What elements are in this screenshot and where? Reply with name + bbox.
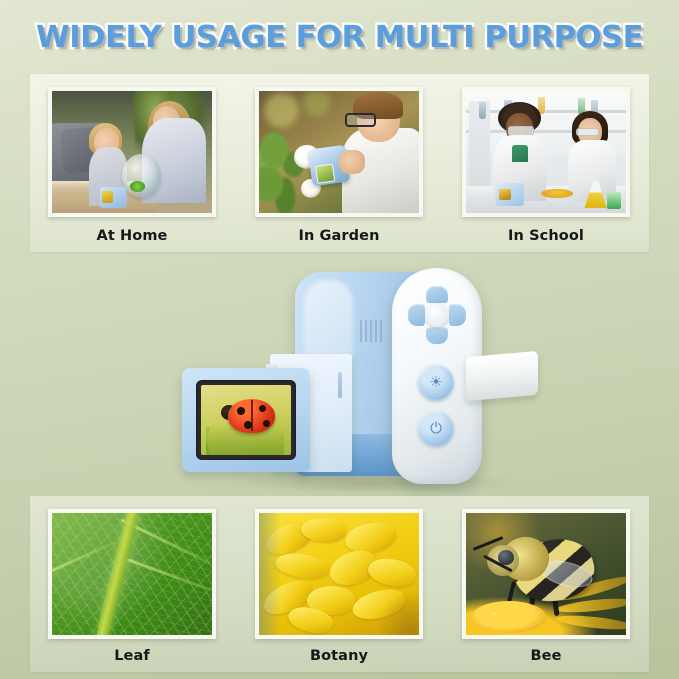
power-icon: ⏻: [418, 410, 454, 446]
usage-scenarios-row: At Home In Garden: [30, 74, 649, 252]
dpad-ok-button[interactable]: [425, 303, 449, 327]
sample-label-bee: Bee: [462, 648, 630, 664]
sample-photo-leaf: [48, 509, 216, 639]
sample-photo-botany: [255, 509, 423, 639]
dpad-left-button[interactable]: [408, 304, 425, 326]
usage-photo-at-home: [48, 87, 216, 217]
usage-label-in-school: In School: [462, 228, 630, 244]
dpad-right-button[interactable]: [449, 304, 466, 326]
wrist-strap: [466, 351, 538, 401]
sample-label-botany: Botany: [255, 648, 423, 664]
page-title: WIDELY USAGE FOR MULTI PURPOSE: [36, 20, 643, 55]
sample-card-bee[interactable]: Bee: [462, 496, 630, 672]
sample-photo-bee: [462, 509, 630, 639]
headline-banner: WIDELY USAGE FOR MULTI PURPOSE: [0, 20, 679, 55]
usage-photo-in-school: [462, 87, 630, 217]
usage-label-at-home: At Home: [48, 228, 216, 244]
capture-button[interactable]: ☀: [418, 364, 454, 400]
product-marketing-image: WIDELY USAGE FOR MULTI PURPOSE At: [0, 0, 679, 679]
usage-card-at-home[interactable]: At Home: [48, 74, 216, 252]
lcd-bezel: [196, 380, 296, 460]
usage-photo-in-garden: [255, 87, 423, 217]
sample-label-leaf: Leaf: [48, 648, 216, 664]
product-microscope[interactable]: ☀ ⏻: [170, 258, 510, 498]
usage-card-in-school[interactable]: In School: [462, 74, 630, 252]
usage-card-in-garden[interactable]: In Garden: [255, 74, 423, 252]
dpad-control[interactable]: [408, 286, 466, 344]
power-button[interactable]: ⏻: [418, 410, 454, 446]
lcd-preview-ladybug: [201, 385, 291, 455]
lcd-screen-frame[interactable]: [182, 368, 310, 472]
capture-icon: ☀: [418, 364, 454, 400]
usage-label-in-garden: In Garden: [255, 228, 423, 244]
dpad-down-button[interactable]: [426, 327, 448, 344]
vent-marking-icon: [360, 320, 384, 342]
sample-card-botany[interactable]: Botany: [255, 496, 423, 672]
dpad-up-button[interactable]: [426, 286, 448, 303]
sample-card-leaf[interactable]: Leaf: [48, 496, 216, 672]
sample-captures-row: Leaf: [30, 496, 649, 672]
